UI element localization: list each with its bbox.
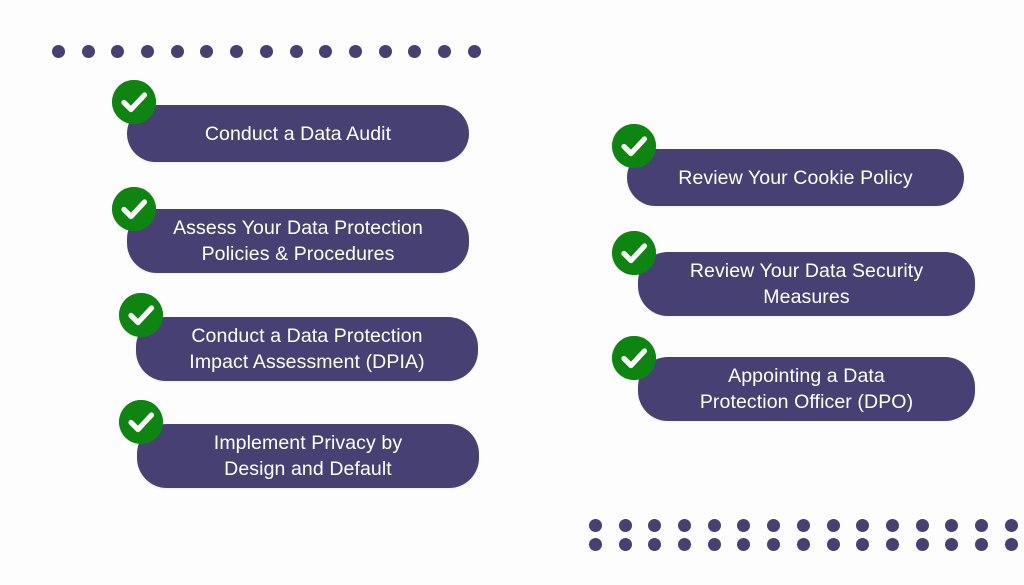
decor-dot — [916, 519, 929, 532]
decor-dot — [767, 519, 780, 532]
check-circle-icon — [119, 400, 163, 444]
decor-dot — [945, 538, 958, 551]
checklist-label: Review Your Data Security Measures — [690, 258, 923, 310]
decor-dot — [975, 538, 988, 551]
checklist-label: Conduct a Data Protection Impact Assessm… — [189, 323, 424, 375]
decor-dot — [589, 538, 602, 551]
decor-dot — [230, 45, 243, 58]
decor-dot — [856, 538, 869, 551]
decor-dot — [708, 519, 721, 532]
decor-dot — [737, 519, 750, 532]
decor-dot — [886, 519, 899, 532]
checklist-label: Implement Privacy by Design and Default — [214, 430, 402, 482]
decor-dot — [468, 45, 481, 58]
decor-dot — [379, 45, 392, 58]
decor-dot — [319, 45, 332, 58]
decor-dot — [827, 519, 840, 532]
checklist-infographic: Conduct a Data Audit Assess Your Data Pr… — [0, 0, 1024, 585]
checklist-label: Conduct a Data Audit — [205, 121, 391, 147]
decor-dot — [52, 45, 65, 58]
decor-dot — [619, 519, 632, 532]
decor-dot — [886, 538, 899, 551]
decor-dot — [290, 45, 303, 58]
decor-dot — [648, 519, 661, 532]
check-circle-icon — [112, 187, 156, 231]
decor-dot — [827, 538, 840, 551]
check-circle-icon — [612, 124, 656, 168]
checklist-pill[interactable]: Appointing a Data Protection Officer (DP… — [638, 357, 975, 421]
checklist-pill[interactable]: Conduct a Data Audit — [127, 105, 469, 162]
decor-dot — [767, 538, 780, 551]
decor-dot — [856, 519, 869, 532]
decor-dot — [678, 519, 691, 532]
decor-dot — [945, 519, 958, 532]
decor-dot — [260, 45, 273, 58]
dotted-block-bottom — [589, 519, 1018, 551]
dot-line — [589, 538, 1018, 551]
check-circle-icon — [119, 293, 163, 337]
checklist-pill[interactable]: Conduct a Data Protection Impact Assessm… — [136, 317, 478, 381]
decor-dot — [408, 45, 421, 58]
decor-dot — [708, 538, 721, 551]
dotted-divider-top — [52, 45, 481, 58]
check-circle-icon — [612, 231, 656, 275]
decor-dot — [111, 45, 124, 58]
decor-dot — [200, 45, 213, 58]
decor-dot — [678, 538, 691, 551]
check-circle-icon — [612, 336, 656, 380]
decor-dot — [141, 45, 154, 58]
decor-dot — [619, 538, 632, 551]
decor-dot — [82, 45, 95, 58]
decor-dot — [1005, 519, 1018, 532]
check-circle-icon — [112, 80, 156, 124]
checklist-pill[interactable]: Review Your Cookie Policy — [627, 149, 964, 206]
checklist-label: Assess Your Data Protection Policies & P… — [173, 215, 423, 267]
decor-dot — [648, 538, 661, 551]
decor-dot — [1005, 538, 1018, 551]
decor-dot — [438, 45, 451, 58]
decor-dot — [797, 519, 810, 532]
decor-dot — [171, 45, 184, 58]
decor-dot — [916, 538, 929, 551]
checklist-pill[interactable]: Assess Your Data Protection Policies & P… — [127, 209, 469, 273]
decor-dot — [797, 538, 810, 551]
checklist-pill[interactable]: Implement Privacy by Design and Default — [137, 424, 479, 488]
decor-dot — [589, 519, 602, 532]
checklist-pill[interactable]: Review Your Data Security Measures — [638, 252, 975, 316]
dot-line — [589, 519, 1018, 532]
checklist-label: Appointing a Data Protection Officer (DP… — [700, 363, 913, 415]
decor-dot — [975, 519, 988, 532]
decor-dot — [349, 45, 362, 58]
decor-dot — [737, 538, 750, 551]
checklist-label: Review Your Cookie Policy — [678, 165, 912, 191]
